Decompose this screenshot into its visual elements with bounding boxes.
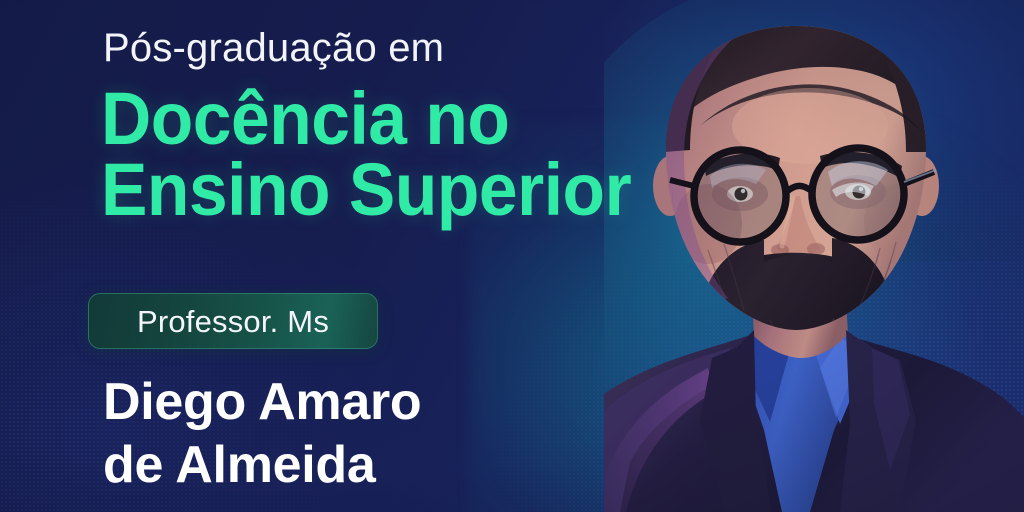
professor-title-badge: Professor. Ms: [88, 293, 378, 349]
headline-line-2: Ensino Superior: [101, 154, 631, 225]
text-content: Pós-graduação em Docência no Ensino Supe…: [0, 0, 760, 512]
promo-banner: Pós-graduação em Docência no Ensino Supe…: [0, 0, 1024, 512]
instructor-name: Diego Amaro de Almeida: [103, 371, 421, 498]
instructor-name-line-1: Diego Amaro: [103, 373, 421, 431]
badge-label: Professor. Ms: [137, 306, 329, 337]
eyebrow-text: Pós-graduação em: [103, 26, 444, 70]
instructor-name-line-2: de Almeida: [103, 434, 421, 497]
course-headline: Docência no Ensino Superior: [101, 83, 631, 225]
